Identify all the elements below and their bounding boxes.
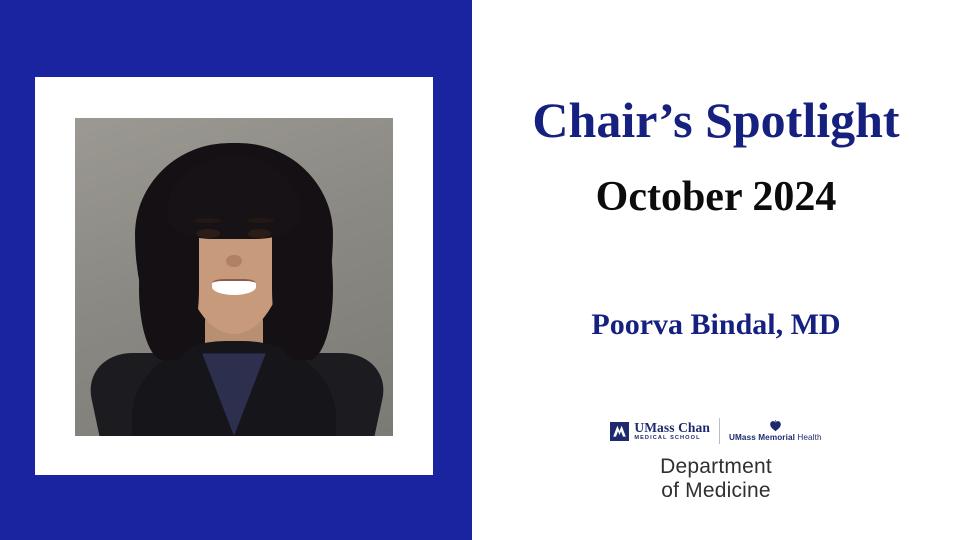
portrait-illustration	[75, 118, 393, 436]
umass-chan-mark-icon	[610, 422, 629, 441]
eye-left	[197, 229, 219, 237]
umass-memorial-suffix: Health	[795, 433, 822, 442]
umass-chan-tagline: MEDICAL SCHOOL	[634, 436, 710, 442]
department-line-2: of Medicine	[660, 479, 772, 503]
umass-memorial-name: UMass Memorial	[729, 433, 795, 442]
photo-white-frame	[35, 77, 433, 475]
logo-divider	[719, 418, 720, 444]
person-name: Poorva Bindal, MD	[472, 310, 960, 340]
department-label: Department of Medicine	[660, 455, 772, 502]
logo-block: UMass Chan MEDICAL SCHOOL UMass Memorial…	[472, 414, 960, 502]
umass-chan-name: UMass Chan	[634, 421, 710, 435]
mouth-shape	[212, 279, 257, 295]
logo-row: UMass Chan MEDICAL SCHOOL UMass Memorial…	[610, 414, 821, 448]
right-content-area: Chair’s Spotlight October 2024 Poorva Bi…	[472, 0, 960, 540]
umass-memorial-mark-icon	[769, 419, 782, 432]
slide-subtitle: October 2024	[472, 176, 960, 218]
portrait-photo	[75, 118, 393, 436]
slide-title: Chair’s Spotlight	[472, 95, 960, 145]
umass-chan-logo: UMass Chan MEDICAL SCHOOL	[610, 421, 710, 442]
umass-chan-wordmark: UMass Chan MEDICAL SCHOOL	[634, 421, 710, 442]
umass-memorial-wordmark: UMass Memorial Health	[729, 434, 822, 442]
eye-right	[248, 229, 270, 237]
slide-canvas: Chair’s Spotlight October 2024 Poorva Bi…	[0, 0, 960, 540]
umass-memorial-logo: UMass Memorial Health	[729, 419, 822, 442]
department-line-1: Department	[660, 455, 772, 479]
